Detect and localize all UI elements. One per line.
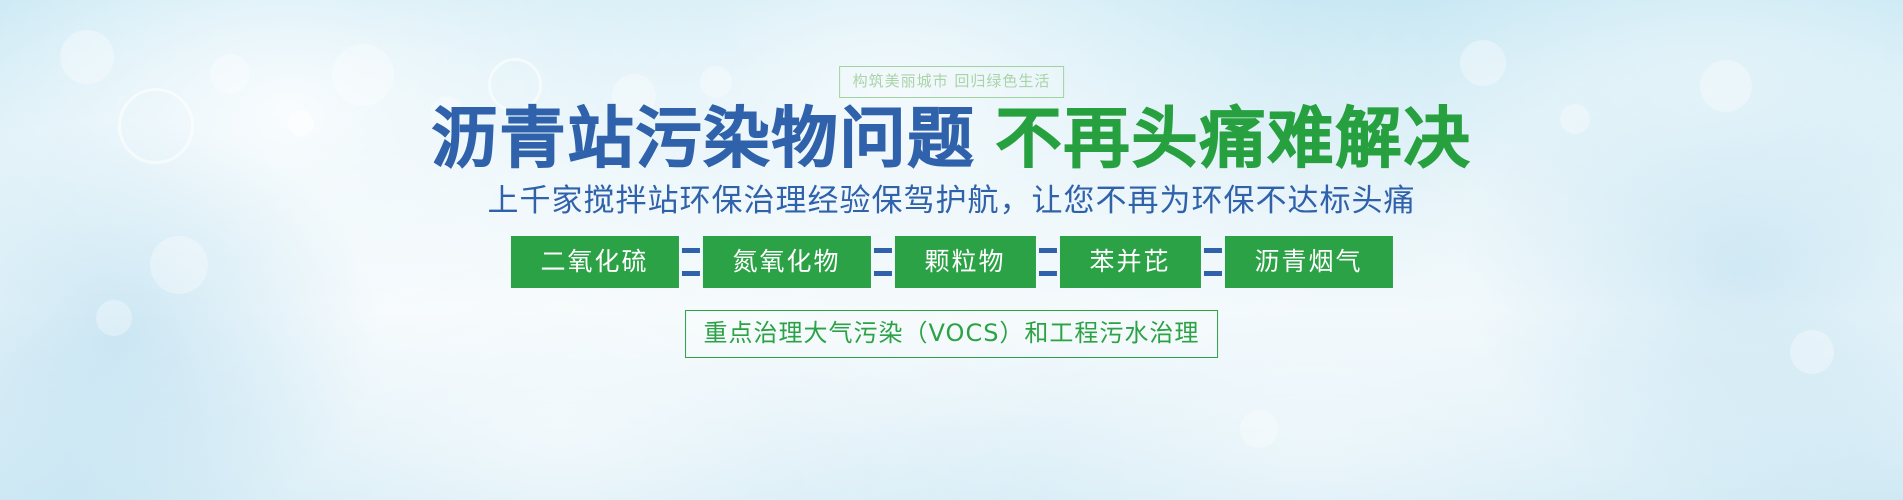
separator-dash-bottom xyxy=(1204,271,1222,276)
chip-separator xyxy=(870,236,894,288)
hero-banner: 构筑美丽城市 回归绿色生活 沥青站污染物问题不再头痛难解决 上千家搅拌站环保治理… xyxy=(0,0,1903,500)
subtitle: 上千家搅拌站环保治理经验保驾护航，让您不再为环保不达标头痛 xyxy=(0,182,1903,220)
pollutant-chip-1[interactable]: 二氧化硫 xyxy=(510,236,678,288)
banner-content: 构筑美丽城市 回归绿色生活 沥青站污染物问题不再头痛难解决 上千家搅拌站环保治理… xyxy=(0,0,1903,500)
tagline-pill: 构筑美丽城市 回归绿色生活 xyxy=(839,66,1065,98)
separator-dash-top xyxy=(681,248,699,253)
separator-dash-top xyxy=(1204,248,1222,253)
separator-dash-bottom xyxy=(681,271,699,276)
headline: 沥青站污染物问题不再头痛难解决 xyxy=(0,104,1903,174)
headline-blue-text: 沥青站污染物问题 xyxy=(432,100,976,177)
headline-green-text: 不再头痛难解决 xyxy=(996,100,1472,177)
chip-separator xyxy=(678,236,702,288)
chip-separator xyxy=(1201,236,1225,288)
chip-separator xyxy=(1036,236,1060,288)
pollutant-chip-2[interactable]: 氮氧化物 xyxy=(702,236,870,288)
pollutant-chip-row: 二氧化硫 氮氧化物 颗粒物 苯并芘 沥青烟气 xyxy=(510,236,1392,288)
separator-dash-bottom xyxy=(873,271,891,276)
separator-dash-top xyxy=(1039,248,1057,253)
focus-note: 重点治理大气污染（VOCS）和工程污水治理 xyxy=(685,310,1219,358)
separator-dash-top xyxy=(873,248,891,253)
pollutant-chip-3[interactable]: 颗粒物 xyxy=(894,236,1035,288)
separator-dash-bottom xyxy=(1039,271,1057,276)
pollutant-chip-4[interactable]: 苯并芘 xyxy=(1060,236,1201,288)
pollutant-chip-5[interactable]: 沥青烟气 xyxy=(1225,236,1393,288)
